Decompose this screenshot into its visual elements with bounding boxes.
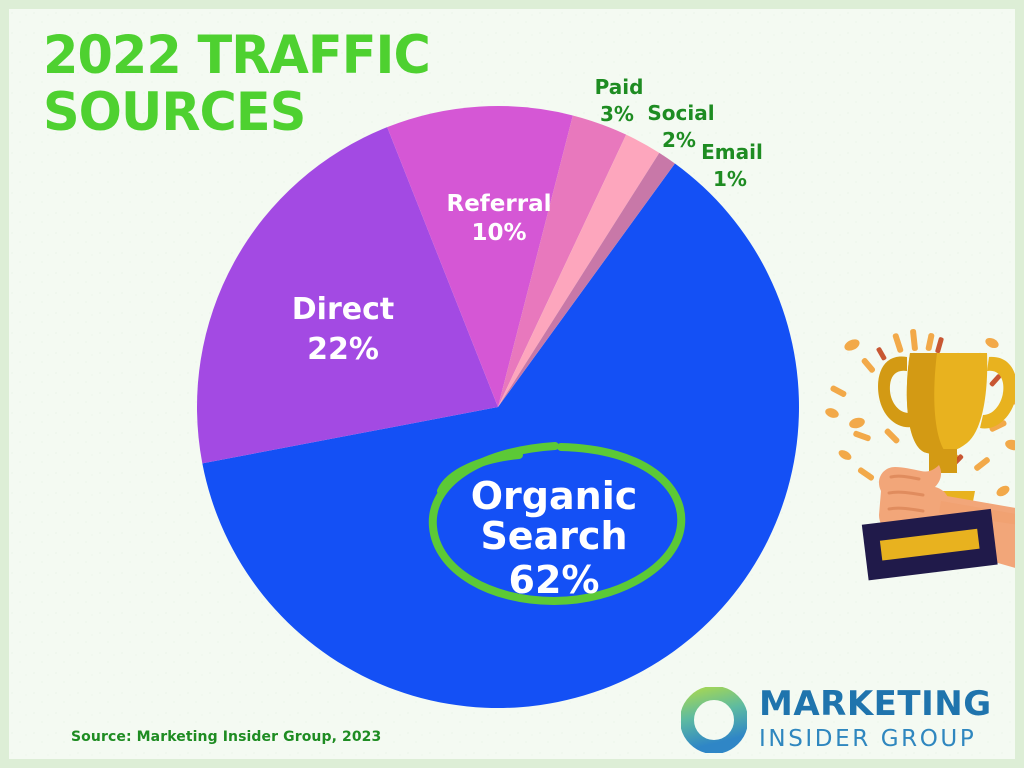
slice-label-organic-search-line-2: Search — [480, 514, 627, 558]
source-note: Source: Marketing Insider Group, 2023 — [71, 729, 381, 745]
slice-label-organic-search-line-1: Organic — [471, 474, 638, 518]
slice-callout-email-value: 1% — [713, 167, 747, 191]
slice-label-direct-value: 22% — [307, 332, 379, 367]
slice-callout-paid-value: 3% — [600, 102, 634, 126]
pie-chart-svg: Direct 22% Referral 10% Paid 3% Social 2… — [9, 9, 1015, 759]
slice-callout-email-name: Email — [701, 140, 763, 164]
slice-callout-paid-name: Paid — [595, 75, 644, 99]
brand-logo-secondary: INSIDER GROUP — [759, 728, 992, 751]
brand-logo[interactable]: MARKETING INSIDER GROUP — [681, 685, 981, 757]
slice-label-direct-name: Direct — [292, 292, 394, 327]
infographic-page: 2022 TRAFFIC SOURCES — [9, 9, 1015, 759]
slice-callout-social-value: 2% — [662, 128, 696, 152]
brand-logo-primary: MARKETING — [759, 687, 992, 721]
brand-logo-text: MARKETING INSIDER GROUP — [759, 687, 992, 751]
pie-chart: Direct 22% Referral 10% Paid 3% Social 2… — [9, 9, 1015, 759]
slice-label-organic-search-value: 62% — [509, 558, 600, 602]
slice-callout-email: Email 1% — [701, 140, 763, 191]
slice-label-referral-value: 10% — [471, 220, 526, 246]
ring-icon — [681, 687, 747, 753]
slice-callout-paid: Paid 3% — [595, 75, 644, 126]
slice-callout-social-name: Social — [647, 101, 714, 125]
slice-label-referral-name: Referral — [446, 191, 551, 217]
infographic-canvas: 2022 TRAFFIC SOURCES — [0, 0, 1024, 768]
